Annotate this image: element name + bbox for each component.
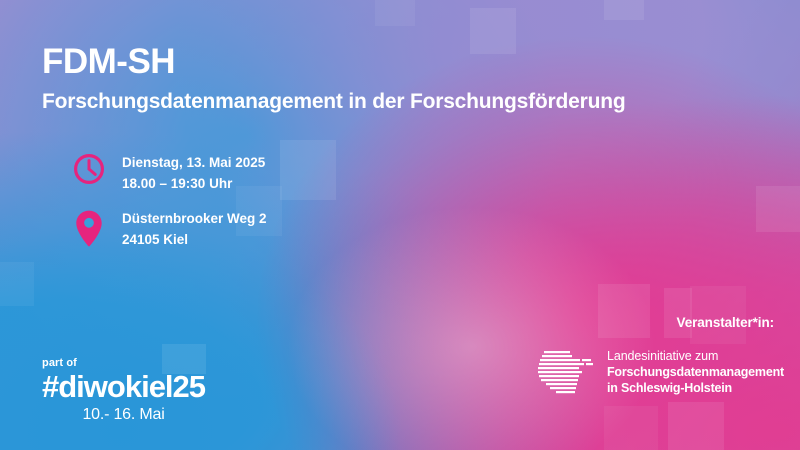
event-date-text: Dienstag, 13. Mai 2025 18.00 – 19:30 Uhr [122, 152, 265, 195]
banner-content: FDM-SH Forschungsdatenmanagement in der … [0, 0, 800, 450]
diwokiel-block: part of #diwokiel25 10.- 16. Mai [42, 358, 205, 424]
organiser-logo-line3: in Schleswig-Holstein [607, 380, 784, 396]
organiser-logo-text: Landesinitiative zum Forschungsdatenmana… [607, 348, 784, 396]
event-banner: FDM-SH Forschungsdatenmanagement in der … [0, 0, 800, 450]
event-date-row: Dienstag, 13. Mai 2025 18.00 – 19:30 Uhr [72, 152, 265, 195]
organiser-logo-line1: Landesinitiative zum [607, 348, 784, 364]
clock-icon [72, 152, 106, 191]
organiser-label: Veranstalter*in: [677, 315, 774, 330]
event-date-line2: 18.00 – 19:30 Uhr [122, 174, 265, 195]
event-date-line1: Dienstag, 13. Mai 2025 [122, 153, 265, 174]
page-subtitle: Forschungsdatenmanagement in der Forschu… [42, 90, 626, 113]
diwokiel-date-range: 10.- 16. Mai [42, 405, 205, 424]
map-pin-icon [72, 208, 106, 255]
diwokiel-part-of: part of [42, 358, 205, 369]
schleswig-holstein-striped-map-logo-icon [538, 350, 596, 394]
event-location-line2: 24105 Kiel [122, 230, 267, 251]
organiser-logo: Landesinitiative zum Forschungsdatenmana… [538, 348, 784, 396]
organiser-logo-line2: Forschungsdatenmanagement [607, 364, 784, 380]
event-location-text: Düsternbrooker Weg 2 24105 Kiel [122, 208, 267, 251]
event-location-row: Düsternbrooker Weg 2 24105 Kiel [72, 208, 267, 255]
diwokiel-hashtag: #diwokiel25 [42, 371, 205, 404]
page-title: FDM-SH [42, 44, 175, 79]
event-location-line1: Düsternbrooker Weg 2 [122, 209, 267, 230]
